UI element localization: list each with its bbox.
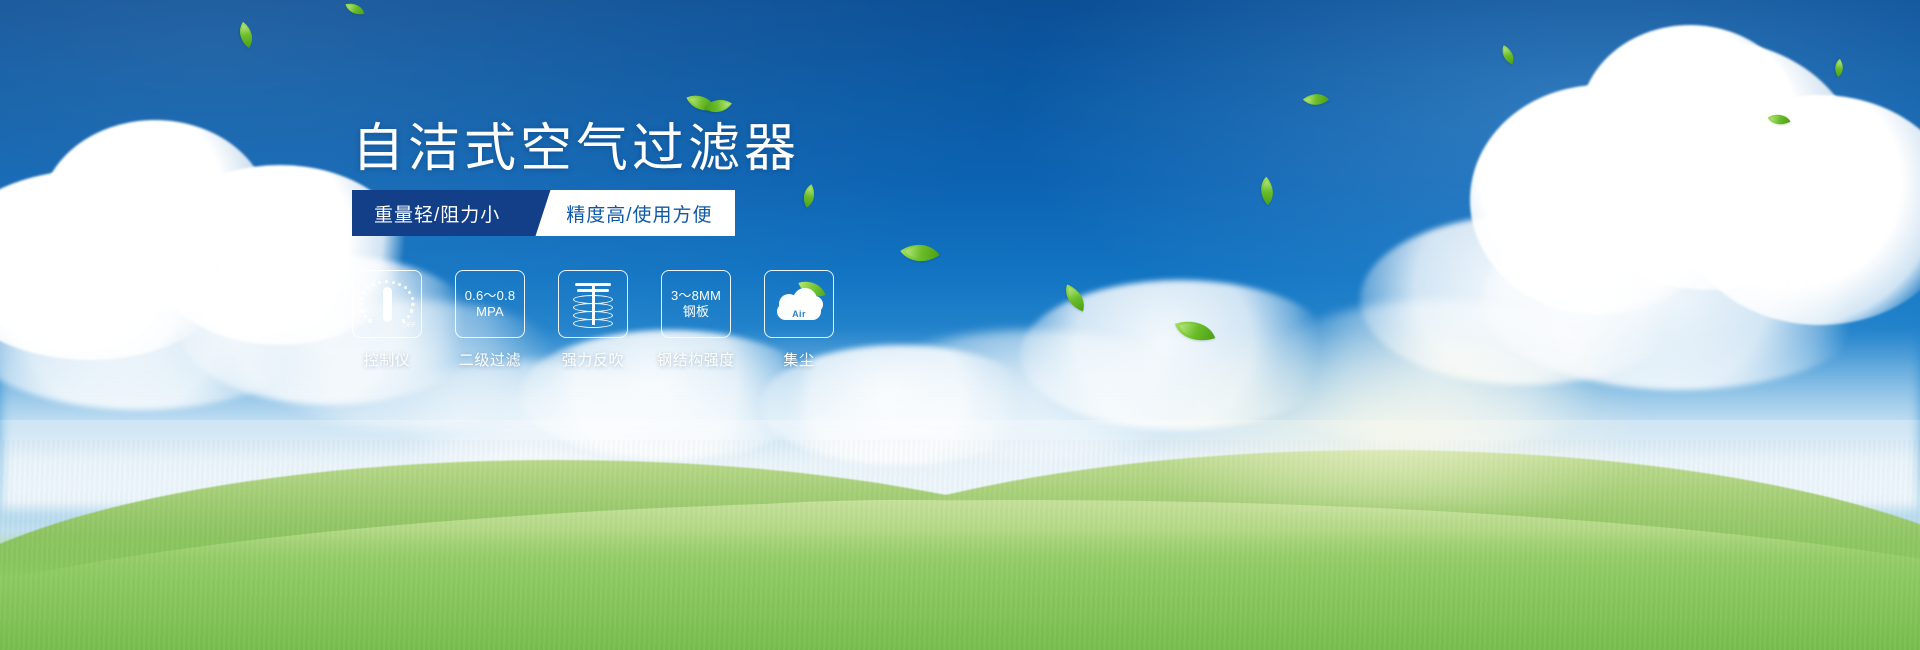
feature-label: 二级过滤 [459,349,521,370]
tag-precision-convenience: 精度高/使用方便 [532,190,734,236]
back-blow-filter-icon [571,279,615,329]
feature-icon-box: 3～8MM 钢板 [661,270,731,338]
feature-label: 强力反吹 [562,349,624,370]
tag-weight-resistance: 重量轻/阻力小 [352,190,526,236]
feature-icon-box [558,270,628,338]
page-title: 自洁式空气过滤器 [352,118,800,180]
banner-content: 自洁式空气过滤器 重量轻/阻力小 精度高/使用方便 [0,0,1920,650]
feature-label: 集尘 [783,349,814,370]
feature-item-dust-collection: Air 集尘 [764,270,834,370]
feature-label: 控制仪 [364,349,411,370]
gauge-label-off: OFF [403,323,416,329]
pressure-text-icon: 0.6～0.8 MPA [465,288,516,320]
tag-group: 重量轻/阻力小 精度高/使用方便 [352,190,735,236]
steel-plate-text-icon: 3～8MM 钢板 [671,288,721,320]
steel-material-line: 钢板 [671,304,721,320]
pressure-unit-line: MPA [465,304,516,320]
feature-icon-box: NO OFF [352,270,422,338]
feature-item-controller: NO OFF 控制仪 [352,270,422,370]
title-leaf-right-icon [704,92,732,120]
steel-thickness-line: 3～8MM [671,288,721,304]
feature-label: 钢结构强度 [657,349,735,370]
gauge-label-no: NO [358,308,368,314]
feature-item-steel-structure: 3～8MM 钢板 钢结构强度 [661,270,731,370]
feature-list: NO OFF 控制仪 0.6～0.8 MPA 二级过滤 [352,270,834,370]
product-banner: 自洁式空气过滤器 重量轻/阻力小 精度高/使用方便 [0,0,1920,650]
feature-item-back-blow: 强力反吹 [558,270,628,370]
feature-icon-box: 0.6～0.8 MPA [455,270,525,338]
feature-icon-box: Air [764,270,834,338]
gauge-dial-icon: NO OFF [360,278,414,330]
feature-item-secondary-filter: 0.6～0.8 MPA 二级过滤 [455,270,525,370]
pressure-value-line: 0.6～0.8 [465,288,516,304]
air-cloud-icon: Air [773,282,825,326]
air-label: Air [773,309,825,319]
